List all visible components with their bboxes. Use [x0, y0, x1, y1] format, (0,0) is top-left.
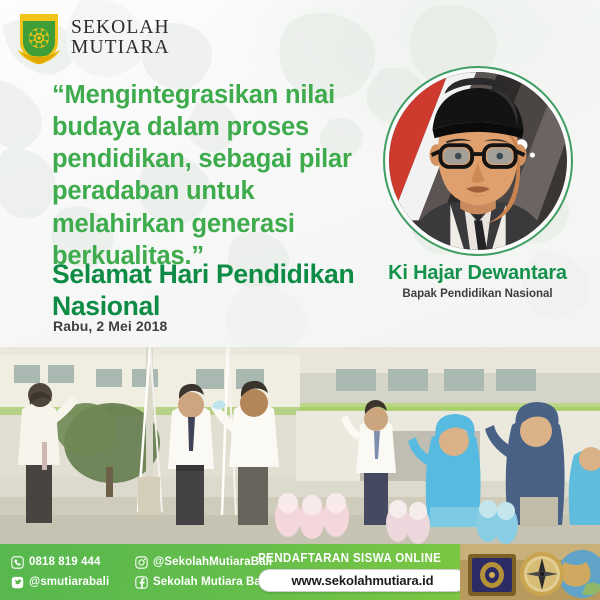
contact-phone-label: 0818 819 444: [29, 556, 101, 568]
contact-phone[interactable]: 0818 819 444: [11, 556, 129, 569]
website-url-label: www.sekolahmutiara.id: [292, 573, 434, 588]
brand-name-line1: SEKOLAH: [71, 18, 170, 38]
ki-hajar-dewantara-portrait: [389, 72, 567, 250]
instagram-icon: [135, 556, 148, 569]
poster-canvas: SEKOLAH MUTIARA “Mengintegrasikan nilai …: [0, 0, 600, 600]
contact-facebook[interactable]: Sekolah Mutiara Bali: [135, 576, 272, 589]
footer-bar: 0818 819 444 @SekolahMutiaraBali: [0, 544, 600, 600]
quran-compass-globe-photo: [460, 544, 600, 600]
flag-ceremony-photo: [0, 347, 600, 544]
contact-instagram-label: @SekolahMutiaraBali: [153, 556, 272, 568]
contact-list: 0818 819 444 @SekolahMutiaraBali: [11, 552, 272, 592]
phone-icon: [11, 556, 24, 569]
registration-promo: PENDAFTARAN SISWA ONLINE www.sekolahmuti…: [258, 551, 473, 592]
brand-wordmark: SEKOLAH MUTIARA: [71, 18, 170, 58]
contact-instagram[interactable]: @SekolahMutiaraBali: [135, 556, 272, 569]
portrait-frame: [383, 66, 573, 256]
person-name: Ki Hajar Dewantara: [370, 262, 585, 285]
quote-text: “Mengintegrasikan nilai budaya dalam pro…: [52, 79, 382, 272]
website-url-button[interactable]: www.sekolahmutiara.id: [258, 569, 467, 592]
hero-section: SEKOLAH MUTIARA “Mengintegrasikan nilai …: [0, 0, 600, 348]
promo-title: PENDAFTARAN SISWA ONLINE: [258, 551, 456, 565]
date-label: Rabu, 2 Mei 2018: [53, 318, 167, 334]
shield-crest-icon: [16, 12, 62, 64]
twitter-icon: [11, 576, 24, 589]
contact-twitter[interactable]: @smutiarabali: [11, 576, 129, 589]
facebook-icon: [135, 576, 148, 589]
person-title: Bapak Pendidikan Nasional: [370, 288, 585, 300]
contact-twitter-label: @smutiarabali: [29, 576, 109, 588]
brand-name-line2: MUTIARA: [71, 38, 170, 58]
page-title: Selamat Hari Pendidikan Nasional: [52, 258, 392, 323]
brand-logo: SEKOLAH MUTIARA: [16, 12, 170, 64]
contact-facebook-label: Sekolah Mutiara Bali: [153, 576, 267, 588]
